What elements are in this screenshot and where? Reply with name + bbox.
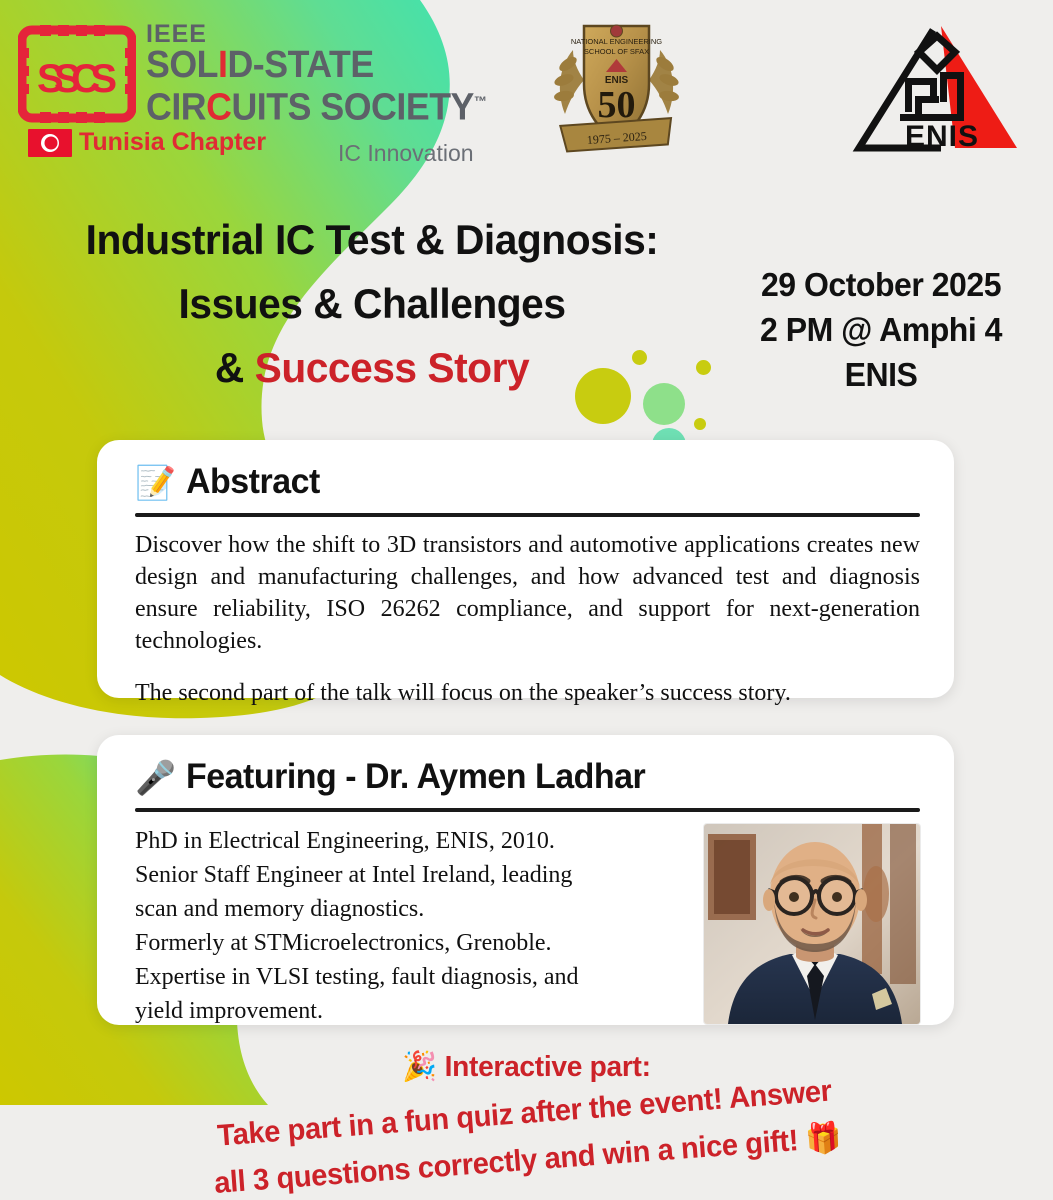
tunisia-chapter-label: Tunisia Chapter bbox=[79, 128, 266, 157]
party-popper-icon: 🎉 bbox=[402, 1051, 437, 1083]
tunisia-flag-icon bbox=[28, 129, 72, 157]
trademark-symbol: ™ bbox=[474, 93, 487, 109]
abstract-paragraph-1: Discover how the shift to 3D transistors… bbox=[135, 529, 920, 657]
abstract-paragraph-2: The second part of the talk will focus o… bbox=[135, 677, 920, 709]
speaker-bio: PhD in Electrical Engineering, ENIS, 201… bbox=[135, 824, 686, 1028]
speaker-bio-line: Formerly at STMicroelectronics, Grenoble… bbox=[135, 926, 686, 960]
sscs-chip-icon: SSCS bbox=[18, 24, 136, 124]
speaker-portrait bbox=[704, 824, 920, 1024]
abstract-card: 📝 Abstract Discover how the shift to 3D … bbox=[97, 440, 954, 698]
enis50-top-text: NATIONAL ENGINEERING bbox=[571, 37, 662, 46]
title-line-3-highlight: Success Story bbox=[255, 344, 530, 391]
speaker-card: 🎤 Featuring - Dr. Aymen Ladhar PhD in El… bbox=[97, 735, 954, 1025]
memo-icon: 📝 bbox=[135, 466, 176, 499]
abstract-title: Abstract bbox=[186, 462, 320, 502]
enis50-number: 50 bbox=[598, 84, 636, 126]
speaker-bio-line: yield improvement. bbox=[135, 994, 686, 1028]
enis-triangle-label: ENIS bbox=[905, 120, 979, 153]
sscs-solidstate-line: SOLID-STATE bbox=[146, 47, 447, 83]
sscs-circuitssociety-line: CIRCUITS SOCIETY™ bbox=[146, 83, 447, 126]
speaker-title: Featuring - Dr. Aymen Ladhar bbox=[186, 757, 645, 797]
speaker-bio-line: PhD in Electrical Engineering, ENIS, 201… bbox=[135, 824, 686, 858]
decor-dot-small-olive-3 bbox=[694, 418, 706, 430]
speaker-header: 🎤 Featuring - Dr. Aymen Ladhar bbox=[135, 757, 920, 797]
speaker-bio-line: scan and memory diagnostics. bbox=[135, 892, 686, 926]
microphone-icon: 🎤 bbox=[135, 761, 176, 794]
gift-icon: 🎁 bbox=[805, 1121, 843, 1157]
interactive-footer: 🎉 Interactive part: Take part in a fun q… bbox=[0, 1050, 1053, 1184]
title-line-3-prefix: & bbox=[215, 344, 255, 391]
enis-triangle-icon: ENIS bbox=[845, 22, 1025, 158]
event-venue: ENIS bbox=[721, 352, 1041, 397]
sscs-wordmark: IEEE SOLID-STATE CIRCUITS SOCIETY™ bbox=[146, 21, 466, 126]
talk-title: Industrial IC Test & Diagnosis: Issues &… bbox=[16, 208, 728, 400]
poster-header: SSCS IEEE SOLID-STATE CIRCUITS SOCIETY™ … bbox=[0, 0, 1053, 175]
speaker-bio-line: Expertise in VLSI testing, fault diagnos… bbox=[135, 960, 686, 994]
interactive-label: Interactive part: bbox=[445, 1051, 651, 1083]
speaker-bio-line: Senior Staff Engineer at Intel Ireland, … bbox=[135, 858, 686, 892]
event-time-place: 2 PM @ Amphi 4 bbox=[721, 307, 1041, 352]
event-poster: SSCS IEEE SOLID-STATE CIRCUITS SOCIETY™ … bbox=[0, 0, 1053, 1200]
enis-50-years-shield-icon: NATIONAL ENGINEERING SCHOOL OF SFAX ENIS… bbox=[539, 14, 694, 164]
interactive-heading: 🎉 Interactive part: bbox=[16, 1050, 1037, 1084]
event-date: 29 October 2025 bbox=[721, 262, 1041, 307]
tunisia-chapter-row: Tunisia Chapter bbox=[28, 128, 266, 157]
ic-innovation-tagline: IC Innovation bbox=[338, 140, 474, 167]
enis50-top-text2: SCHOOL OF SFAX bbox=[584, 47, 649, 56]
abstract-divider bbox=[135, 513, 920, 517]
quiz-text-block: Take part in a fun quiz after the event!… bbox=[200, 1066, 853, 1200]
title-line-2: Issues & Challenges bbox=[27, 272, 718, 336]
event-datetime-block: 29 October 2025 2 PM @ Amphi 4 ENIS bbox=[716, 262, 1046, 397]
abstract-header: 📝 Abstract bbox=[135, 462, 920, 502]
sscs-chip-label: SSCS bbox=[37, 57, 117, 101]
title-line-1: Industrial IC Test & Diagnosis: bbox=[27, 208, 718, 272]
ieee-sscs-logo: SSCS IEEE SOLID-STATE CIRCUITS SOCIETY™ … bbox=[18, 24, 464, 150]
title-line-3: & Success Story bbox=[27, 336, 718, 400]
speaker-divider bbox=[135, 808, 920, 812]
